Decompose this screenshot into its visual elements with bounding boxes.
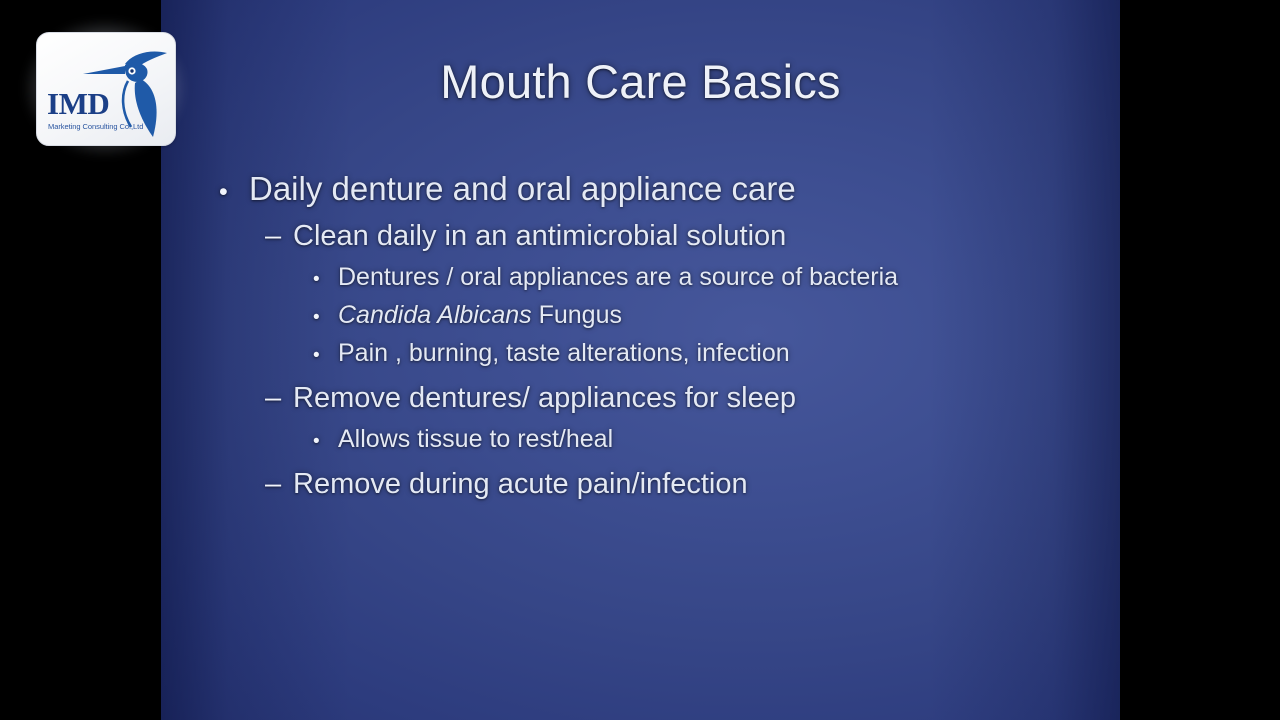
bullet-dot-small-icon: • (313, 269, 338, 291)
list-item: – Remove during acute pain/infection (265, 468, 1100, 501)
species-name: Candida Albicans (338, 301, 532, 329)
presentation-slide: Mouth Care Basics • Daily denture and or… (161, 0, 1120, 720)
logo-tagline: Marketing Consulting Co.,Ltd (48, 122, 143, 131)
page-title: Mouth Care Basics (161, 54, 1120, 109)
list-item: • Daily denture and oral appliance care (219, 170, 1100, 208)
list-item-label: Pain , burning, taste alterations, infec… (338, 339, 790, 368)
list-item-label: Dentures / oral appliances are a source … (338, 263, 898, 292)
bullet-dot-small-icon: • (313, 307, 338, 329)
list-item: • Candida Albicans Fungus (313, 301, 1100, 330)
list-item: • Dentures / oral appliances are a sourc… (313, 263, 1100, 292)
en-dash-icon: – (265, 382, 293, 415)
video-letterbox-frame: Mouth Care Basics • Daily denture and or… (0, 0, 1280, 720)
bullet-dot-small-icon: • (313, 431, 338, 453)
logo-wordmark: IMD (47, 88, 109, 119)
bullet-dot-icon: • (219, 178, 249, 207)
slide-bullet-list: • Daily denture and oral appliance care … (211, 170, 1100, 511)
bullet-dot-small-icon: • (313, 345, 338, 367)
list-item: – Remove dentures/ appliances for sleep (265, 382, 1100, 415)
list-item: – Clean daily in an antimicrobial soluti… (265, 220, 1100, 253)
list-item-label: Candida Albicans Fungus (338, 301, 622, 330)
list-item-label: Clean daily in an antimicrobial solution (293, 220, 786, 253)
list-item-label: Allows tissue to rest/heal (338, 425, 613, 454)
list-item: • Pain , burning, taste alterations, inf… (313, 339, 1100, 368)
list-item-label: Daily denture and oral appliance care (249, 170, 796, 208)
list-item: • Allows tissue to rest/heal (313, 425, 1100, 454)
logo-watermark: IMD Marketing Consulting Co.,Ltd (22, 18, 188, 158)
en-dash-icon: – (265, 468, 293, 501)
list-item-label: Remove during acute pain/infection (293, 468, 748, 501)
list-item-label: Remove dentures/ appliances for sleep (293, 382, 796, 415)
en-dash-icon: – (265, 220, 293, 253)
species-suffix: Fungus (532, 301, 622, 329)
logo-card: IMD Marketing Consulting Co.,Ltd (36, 32, 176, 146)
